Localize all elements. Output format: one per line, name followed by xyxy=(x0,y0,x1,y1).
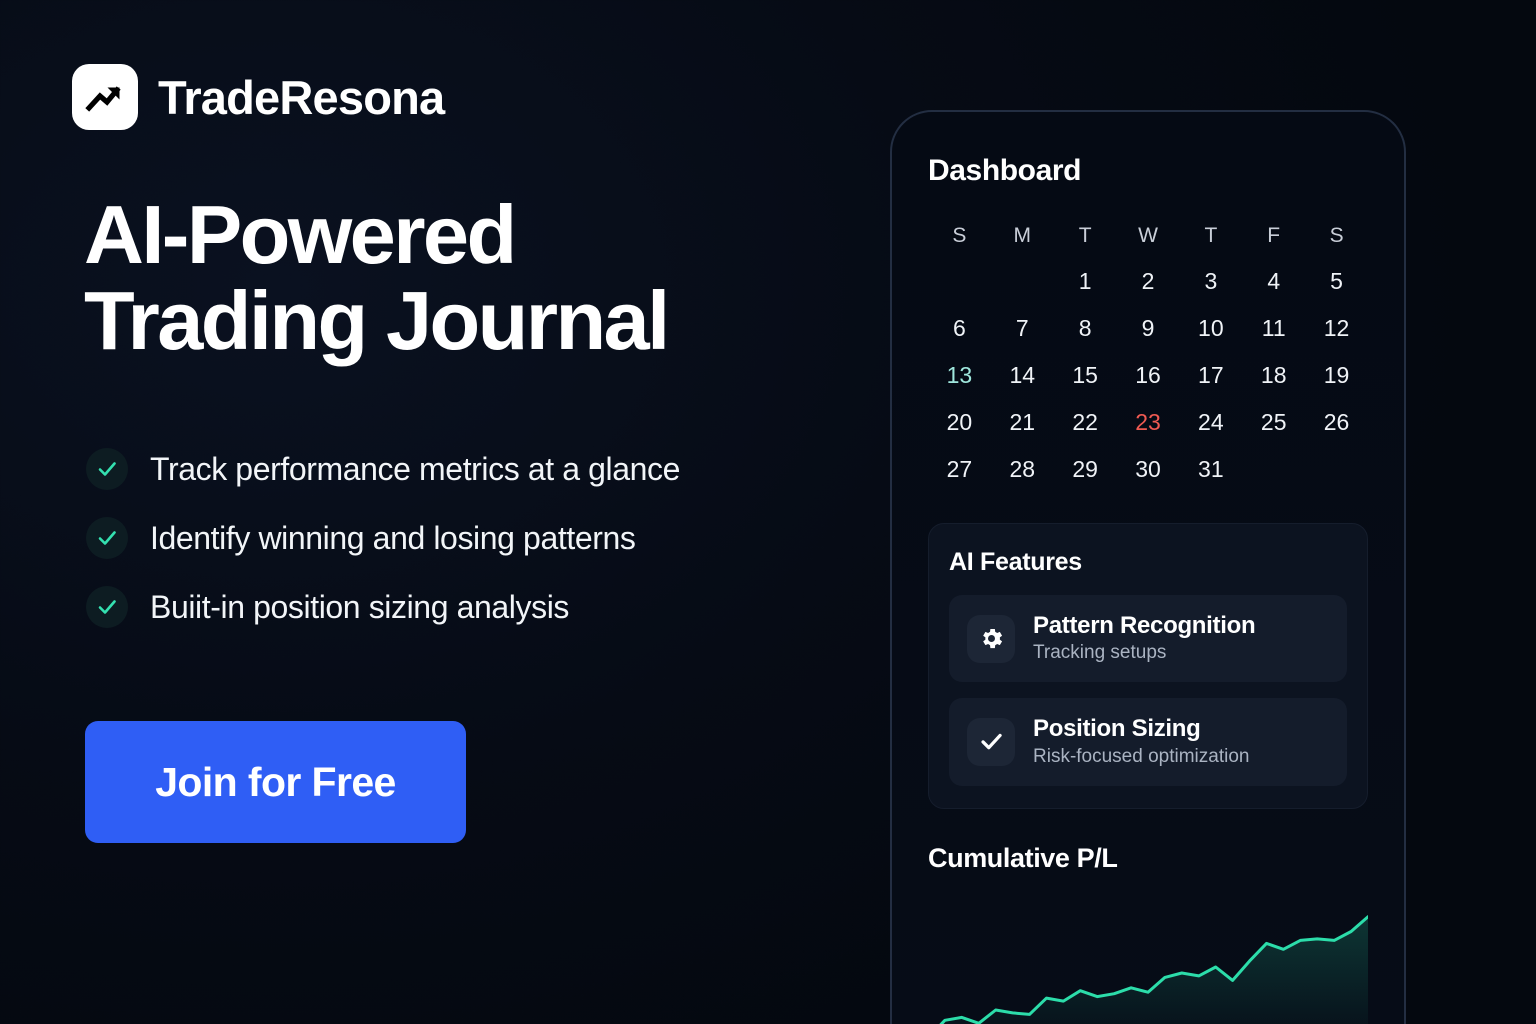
calendar-day[interactable]: 21 xyxy=(991,409,1054,436)
trend-arrow-icon xyxy=(72,64,138,130)
check-icon xyxy=(86,448,128,490)
hero-section: TradeResona AI-Powered Trading Journal T… xyxy=(0,0,880,1024)
calendar-day[interactable]: 14 xyxy=(991,362,1054,389)
headline-line-2: Trading Journal xyxy=(84,278,844,364)
calendar-blank xyxy=(991,268,1054,295)
calendar-day[interactable]: 12 xyxy=(1305,315,1368,342)
calendar-day[interactable]: 31 xyxy=(1179,456,1242,483)
calendar-day[interactable]: 19 xyxy=(1305,362,1368,389)
page-title: AI-Powered Trading Journal xyxy=(84,192,844,365)
calendar-dow: M xyxy=(991,224,1054,248)
ai-feature-subtitle: Risk-focused optimization xyxy=(1033,747,1249,768)
calendar-dow: T xyxy=(1179,224,1242,248)
phone-mockup: Dashboard S M T W T F S 1 2 3 4 5 6 7 8 … xyxy=(890,110,1406,1024)
ai-feature-pattern-recognition[interactable]: Pattern Recognition Tracking setups xyxy=(949,595,1347,682)
headline-line-1: AI-Powered xyxy=(84,188,515,281)
calendar-day[interactable]: 7 xyxy=(991,315,1054,342)
calendar-day[interactable]: 22 xyxy=(1054,409,1117,436)
calendar-day[interactable]: 11 xyxy=(1242,315,1305,342)
ai-feature-position-sizing[interactable]: Position Sizing Risk-focused optimizatio… xyxy=(949,698,1347,785)
brand-name: TradeResona xyxy=(158,74,444,121)
calendar-dow: T xyxy=(1054,224,1117,248)
calendar-blank xyxy=(928,268,991,295)
calendar-day[interactable]: 16 xyxy=(1117,362,1180,389)
calendar-day[interactable]: 29 xyxy=(1054,456,1117,483)
list-item-label: Track performance metrics at a glance xyxy=(150,453,680,485)
calendar-day-profit[interactable]: 13 xyxy=(928,362,991,389)
cumulative-pl-chart xyxy=(928,888,1368,1024)
calendar-day[interactable]: 25 xyxy=(1242,409,1305,436)
calendar[interactable]: S M T W T F S 1 2 3 4 5 6 7 8 9 10 11 xyxy=(928,224,1368,483)
calendar-day[interactable]: 28 xyxy=(991,456,1054,483)
dashboard-title: Dashboard xyxy=(928,154,1368,188)
calendar-day[interactable]: 27 xyxy=(928,456,991,483)
list-item-label: Buiit-in position sizing analysis xyxy=(150,591,569,623)
promo-banner: TradeResona AI-Powered Trading Journal T… xyxy=(0,0,1536,1024)
calendar-day[interactable]: 24 xyxy=(1179,409,1242,436)
calendar-day[interactable]: 6 xyxy=(928,315,991,342)
calendar-day[interactable]: 20 xyxy=(928,409,991,436)
calendar-day[interactable]: 18 xyxy=(1242,362,1305,389)
calendar-day-loss[interactable]: 23 xyxy=(1117,409,1180,436)
calendar-day[interactable]: 2 xyxy=(1117,268,1180,295)
calendar-day[interactable]: 8 xyxy=(1054,315,1117,342)
calendar-dow: W xyxy=(1117,224,1180,248)
calendar-blank xyxy=(1242,456,1305,483)
calendar-dow: S xyxy=(1305,224,1368,248)
calendar-day[interactable]: 9 xyxy=(1117,315,1180,342)
calendar-day[interactable]: 15 xyxy=(1054,362,1117,389)
list-item: Identify winning and losing patterns xyxy=(86,517,680,559)
join-for-free-button[interactable]: Join for Free xyxy=(85,721,466,843)
calendar-day[interactable]: 17 xyxy=(1179,362,1242,389)
check-icon xyxy=(86,517,128,559)
calendar-day[interactable]: 26 xyxy=(1305,409,1368,436)
calendar-day[interactable]: 3 xyxy=(1179,268,1242,295)
brand-logo[interactable]: TradeResona xyxy=(72,64,444,130)
list-item: Buiit-in position sizing analysis xyxy=(86,586,680,628)
calendar-dow: F xyxy=(1242,224,1305,248)
ai-features-panel: AI Features Pattern Recognition Tracking… xyxy=(928,523,1368,809)
ai-feature-subtitle: Tracking setups xyxy=(1033,643,1255,664)
calendar-day[interactable]: 10 xyxy=(1179,315,1242,342)
calendar-dow: S xyxy=(928,224,991,248)
calendar-day[interactable]: 30 xyxy=(1117,456,1180,483)
feature-list: Track performance metrics at a glance Id… xyxy=(86,448,680,628)
ai-feature-title: Pattern Recognition xyxy=(1033,613,1255,639)
calendar-day[interactable]: 4 xyxy=(1242,268,1305,295)
ai-features-title: AI Features xyxy=(949,548,1347,577)
check-icon xyxy=(967,718,1015,766)
cumulative-pl-title: Cumulative P/L xyxy=(928,843,1368,874)
gear-icon xyxy=(967,615,1015,663)
join-for-free-label: Join for Free xyxy=(155,759,396,806)
check-icon xyxy=(86,586,128,628)
calendar-day[interactable]: 1 xyxy=(1054,268,1117,295)
ai-feature-title: Position Sizing xyxy=(1033,716,1249,742)
list-item-label: Identify winning and losing patterns xyxy=(150,522,635,554)
calendar-day[interactable]: 5 xyxy=(1305,268,1368,295)
list-item: Track performance metrics at a glance xyxy=(86,448,680,490)
calendar-blank xyxy=(1305,456,1368,483)
